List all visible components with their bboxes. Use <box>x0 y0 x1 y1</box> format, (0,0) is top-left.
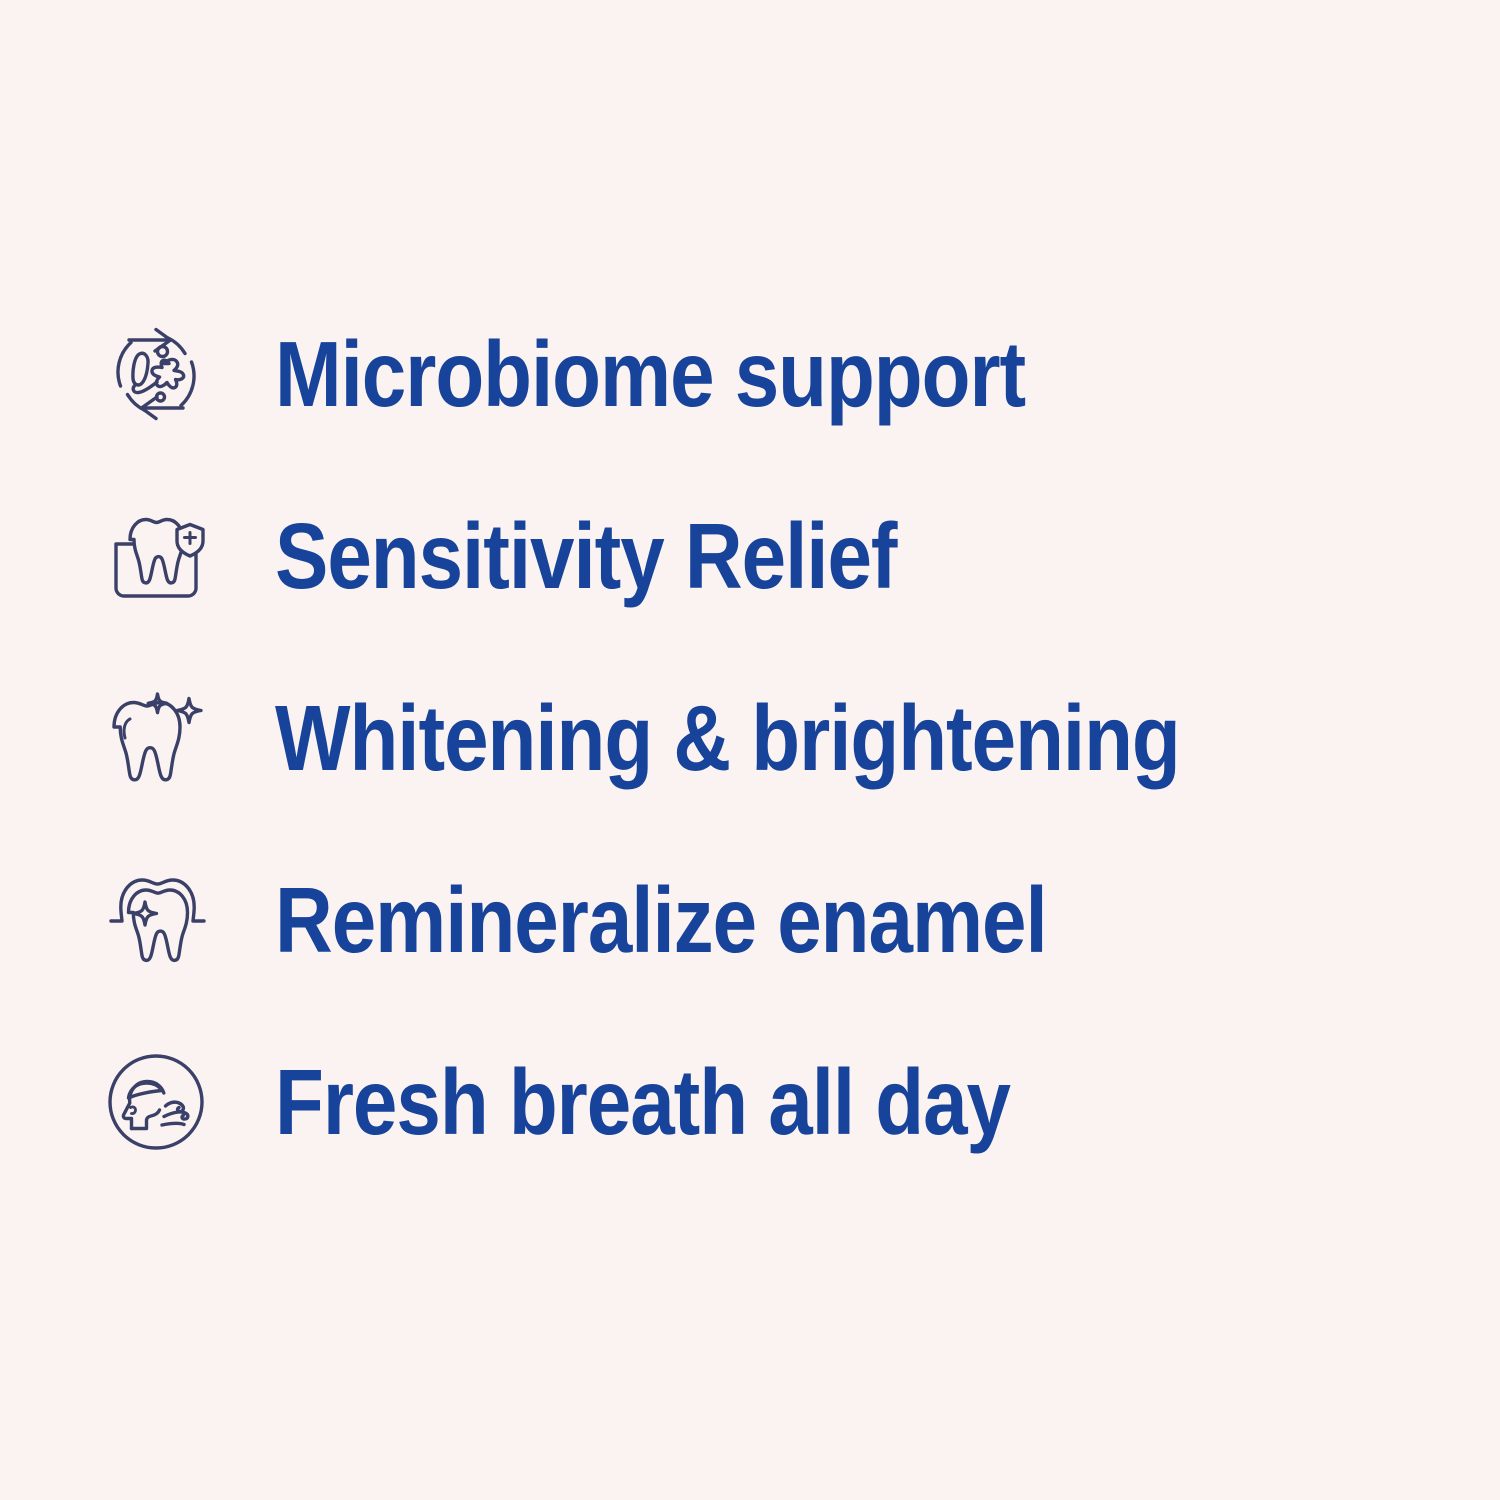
benefit-label: Fresh breath all day <box>275 1055 1010 1150</box>
benefits-list: Microbiome support Sensitivity Relief <box>100 283 1400 1193</box>
benefit-item-sensitivity-relief: Sensitivity Relief <box>100 465 1400 647</box>
benefit-item-whitening-brightening: Whitening & brightening <box>100 647 1400 829</box>
tooth-gum-shield-icon <box>100 500 212 612</box>
benefit-item-fresh-breath: Fresh breath all day <box>100 1011 1400 1193</box>
benefits-panel: Microbiome support Sensitivity Relief <box>0 0 1500 1500</box>
tooth-enamel-layer-icon <box>100 864 212 976</box>
microbiome-cycle-icon <box>100 318 212 430</box>
benefit-item-microbiome-support: Microbiome support <box>100 283 1400 465</box>
fresh-breath-head-icon <box>100 1046 212 1158</box>
benefit-label: Whitening & brightening <box>275 691 1180 786</box>
benefit-label: Microbiome support <box>275 327 1025 422</box>
benefit-item-remineralize-enamel: Remineralize enamel <box>100 829 1400 1011</box>
tooth-sparkle-icon <box>100 682 212 794</box>
benefit-label: Remineralize enamel <box>275 873 1047 968</box>
benefit-label: Sensitivity Relief <box>275 509 897 604</box>
